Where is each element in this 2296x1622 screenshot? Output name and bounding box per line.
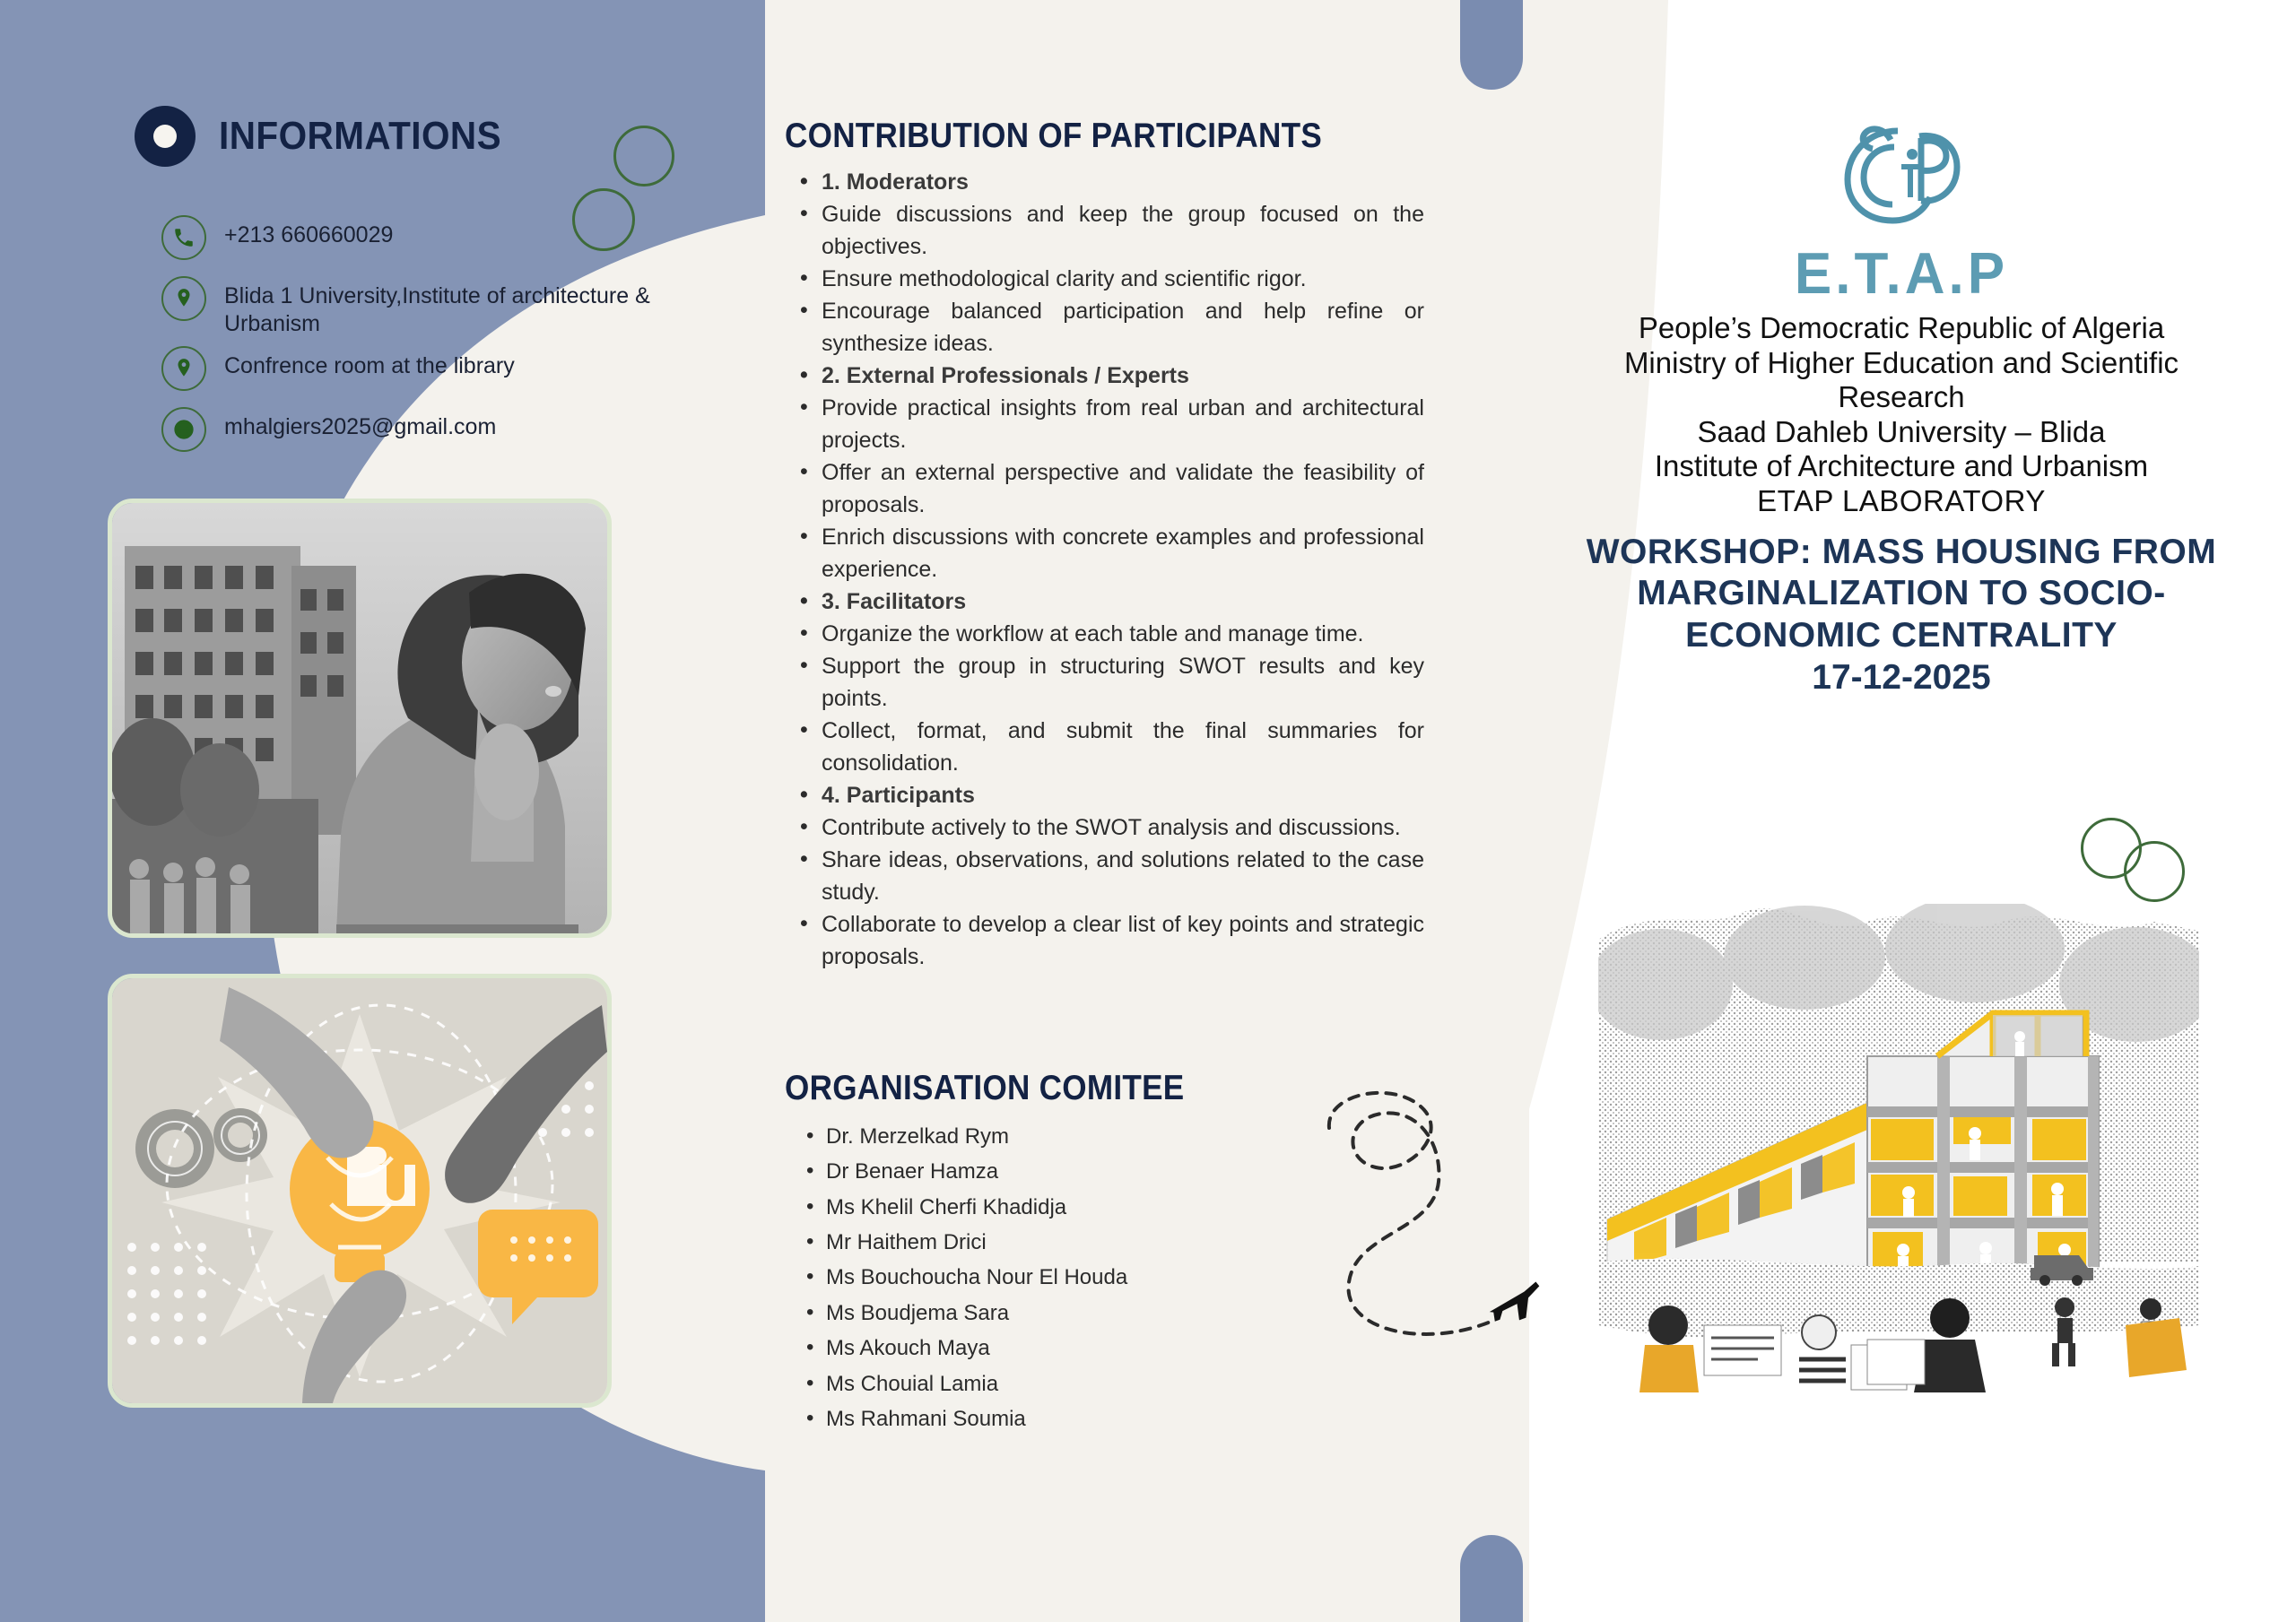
institution-line-4: Institute of Architecture and Urbanism	[1578, 449, 2224, 484]
committee-title: ORGANISATION COMITEE	[785, 1069, 1184, 1108]
contribution-title: CONTRIBUTION OF PARTICIPANTS	[785, 117, 1322, 156]
contact-row-room[interactable]: Confrence room at the library	[161, 346, 664, 391]
decorative-ring-1	[613, 126, 674, 186]
committee-member: Ms Rahmani Soumia	[803, 1401, 1359, 1436]
contribution-item: 4. Participants	[796, 779, 1424, 811]
institution-line-3: Saad Dahleb University – Blida	[1578, 415, 2224, 450]
contribution-item: Provide practical insights from real urb…	[796, 392, 1424, 456]
contribution-item: 2. External Professionals / Experts	[796, 360, 1424, 392]
contact-list: +213 660660029 Blida 1 University,Instit…	[161, 215, 664, 468]
laboratory-name: ETAP LABORATORY	[1578, 484, 2224, 519]
institution-line-1: People’s Democratic Republic of Algeria	[1578, 311, 2224, 346]
contact-row-address[interactable]: Blida 1 University,Institute of architec…	[161, 276, 664, 337]
contribution-item: Collect, format, and submit the final su…	[796, 715, 1424, 779]
contact-address-text: Blida 1 University,Institute of architec…	[224, 276, 664, 337]
workshop-date: 17-12-2025	[1578, 657, 2224, 699]
committee-member: Dr Benaer Hamza	[803, 1154, 1359, 1189]
workshop-title: WORKSHOP: MASS HOUSING FROM MARGINALIZAT…	[1578, 532, 2224, 657]
contribution-item: 1. Moderators	[796, 166, 1424, 198]
committee-list: Dr. Merzelkad RymDr Benaer HamzaMs Kheli…	[803, 1119, 1359, 1436]
location-pin-icon	[161, 276, 206, 321]
informations-title: INFORMATIONS	[219, 114, 501, 159]
contribution-item: Share ideas, observations, and solutions…	[796, 844, 1424, 908]
committee-member: Ms Boudjema Sara	[803, 1296, 1359, 1331]
committee-member: Ms Chouial Lamia	[803, 1366, 1359, 1401]
informations-header: INFORMATIONS	[135, 106, 526, 167]
contact-email-text: mhalgiers2025@gmail.com	[224, 407, 496, 441]
contribution-item: Guide discussions and keep the group foc…	[796, 198, 1424, 263]
committee-member: Ms Akouch Maya	[803, 1331, 1359, 1366]
photo-girl-housing-estate	[108, 499, 612, 938]
decorative-pill-top	[1460, 0, 1523, 90]
committee-member: Ms Khelil Cherfi Khadidja	[803, 1190, 1359, 1225]
contribution-item: Enrich discussions with concrete example…	[796, 521, 1424, 585]
committee-member: Dr. Merzelkad Rym	[803, 1119, 1359, 1154]
contribution-item: Encourage balanced participation and hel…	[796, 295, 1424, 360]
photo-collage-collaboration	[108, 974, 612, 1408]
institution-line-2: Ministry of Higher Education and Scienti…	[1578, 346, 2224, 415]
etap-laboratory-logo	[1578, 115, 2224, 230]
decorative-ring-4	[2124, 841, 2185, 902]
contribution-item: Support the group in structuring SWOT re…	[796, 650, 1424, 715]
right-panel: E.T.A.P People’s Democratic Republic of …	[1578, 0, 2224, 699]
contact-row-email[interactable]: mhalgiers2025@gmail.com	[161, 407, 664, 452]
contact-phone-text: +213 660660029	[224, 215, 393, 249]
contact-room-text: Confrence room at the library	[224, 346, 515, 380]
contribution-item: 3. Facilitators	[796, 585, 1424, 618]
contribution-item: Organize the workflow at each table and …	[796, 618, 1424, 650]
contribution-item: Contribute actively to the SWOT analysis…	[796, 811, 1424, 844]
mass-housing-section-illustration	[1598, 904, 2199, 1392]
contribution-item: Offer an external perspective and valida…	[796, 456, 1424, 521]
committee-member: Ms Bouchoucha Nour El Houda	[803, 1260, 1359, 1295]
globe-icon	[161, 407, 206, 452]
phone-icon	[161, 215, 206, 260]
brochure-page: INFORMATIONS +213 660660029 Blida 1 Univ…	[0, 0, 2296, 1622]
circle-dot-icon	[135, 106, 196, 167]
contribution-list: 1. ModeratorsGuide discussions and keep …	[796, 166, 1424, 973]
location-pin-icon	[161, 346, 206, 391]
committee-member: Mr Haithem Drici	[803, 1225, 1359, 1260]
contribution-item: Ensure methodological clarity and scient…	[796, 263, 1424, 295]
etap-acronym: E.T.A.P	[1578, 240, 2224, 308]
institution-block: People’s Democratic Republic of Algeria …	[1578, 311, 2224, 519]
contribution-item: Collaborate to develop a clear list of k…	[796, 908, 1424, 973]
decorative-pill-bottom	[1460, 1535, 1523, 1622]
contact-row-phone[interactable]: +213 660660029	[161, 215, 664, 260]
